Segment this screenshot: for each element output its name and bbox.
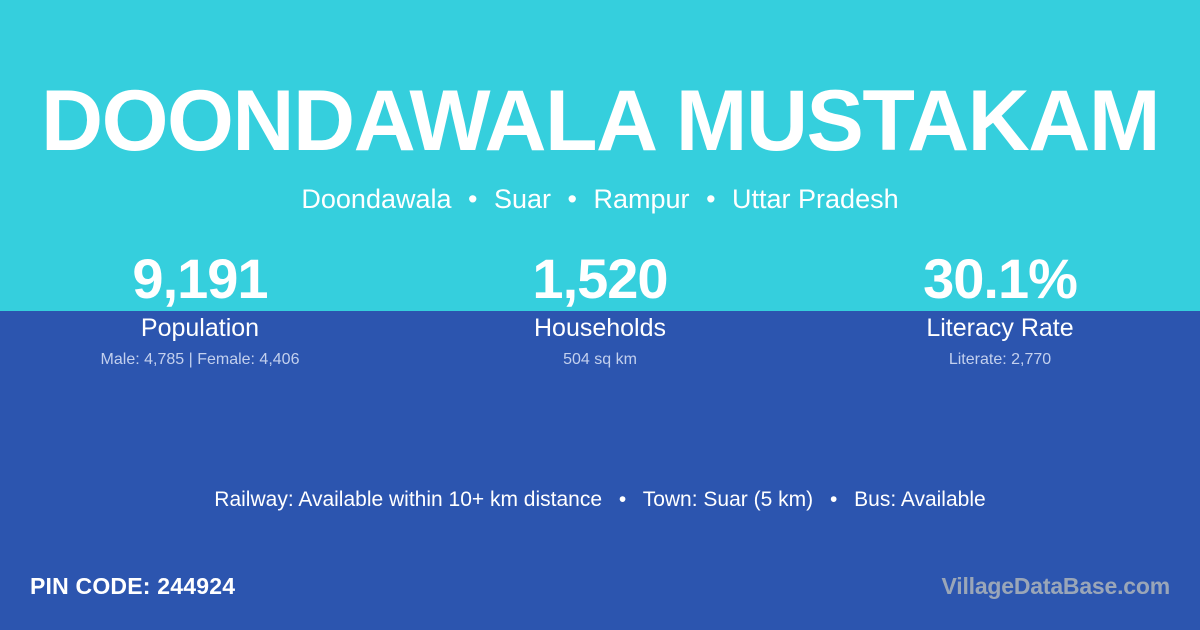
- breadcrumb-separator: •: [459, 183, 486, 215]
- stat-value-population: 9,191: [0, 246, 400, 312]
- breadcrumb: Doondawala • Suar • Rampur • Uttar Prade…: [0, 183, 1200, 215]
- statistics-row: 9,191 Population Male: 4,785 | Female: 4…: [0, 246, 1200, 370]
- stat-label-literacy-rate: Literacy Rate: [800, 312, 1200, 344]
- breadcrumb-item-state: Uttar Pradesh: [732, 184, 899, 214]
- stat-label-population: Population: [0, 312, 400, 344]
- stat-households: 1,520 Households 504 sq km: [400, 246, 800, 370]
- breadcrumb-item-village: Doondawala: [301, 184, 451, 214]
- facility-railway: Railway: Available within 10+ km distanc…: [214, 488, 602, 511]
- page-title: DOONDAWALA MUSTAKAM: [0, 78, 1200, 164]
- facility-town: Town: Suar (5 km): [643, 488, 813, 511]
- village-info-card: DOONDAWALA MUSTAKAM Doondawala • Suar • …: [0, 0, 1200, 630]
- breadcrumb-item-block: Suar: [494, 184, 551, 214]
- facilities-line: Railway: Available within 10+ km distanc…: [0, 487, 1200, 513]
- footer-bar: PIN CODE: 244924 VillageDataBase.com: [0, 554, 1200, 630]
- facility-bus: Bus: Available: [854, 488, 986, 511]
- stat-sub-households: 504 sq km: [400, 350, 800, 370]
- brand-watermark: VillageDataBase.com: [942, 573, 1170, 600]
- stat-label-households: Households: [400, 312, 800, 344]
- breadcrumb-item-district: Rampur: [594, 184, 690, 214]
- facility-separator: •: [819, 487, 848, 513]
- stat-value-households: 1,520: [400, 246, 800, 312]
- pin-code: PIN CODE: 244924: [30, 573, 235, 600]
- stat-sub-literacy-rate: Literate: 2,770: [800, 350, 1200, 370]
- stat-value-literacy-rate: 30.1%: [800, 246, 1200, 312]
- stat-literacy-rate: 30.1% Literacy Rate Literate: 2,770: [800, 246, 1200, 370]
- stat-population: 9,191 Population Male: 4,785 | Female: 4…: [0, 246, 400, 370]
- stat-sub-population: Male: 4,785 | Female: 4,406: [0, 350, 400, 370]
- breadcrumb-separator: •: [697, 183, 724, 215]
- breadcrumb-separator: •: [559, 183, 586, 215]
- facility-separator: •: [608, 487, 637, 513]
